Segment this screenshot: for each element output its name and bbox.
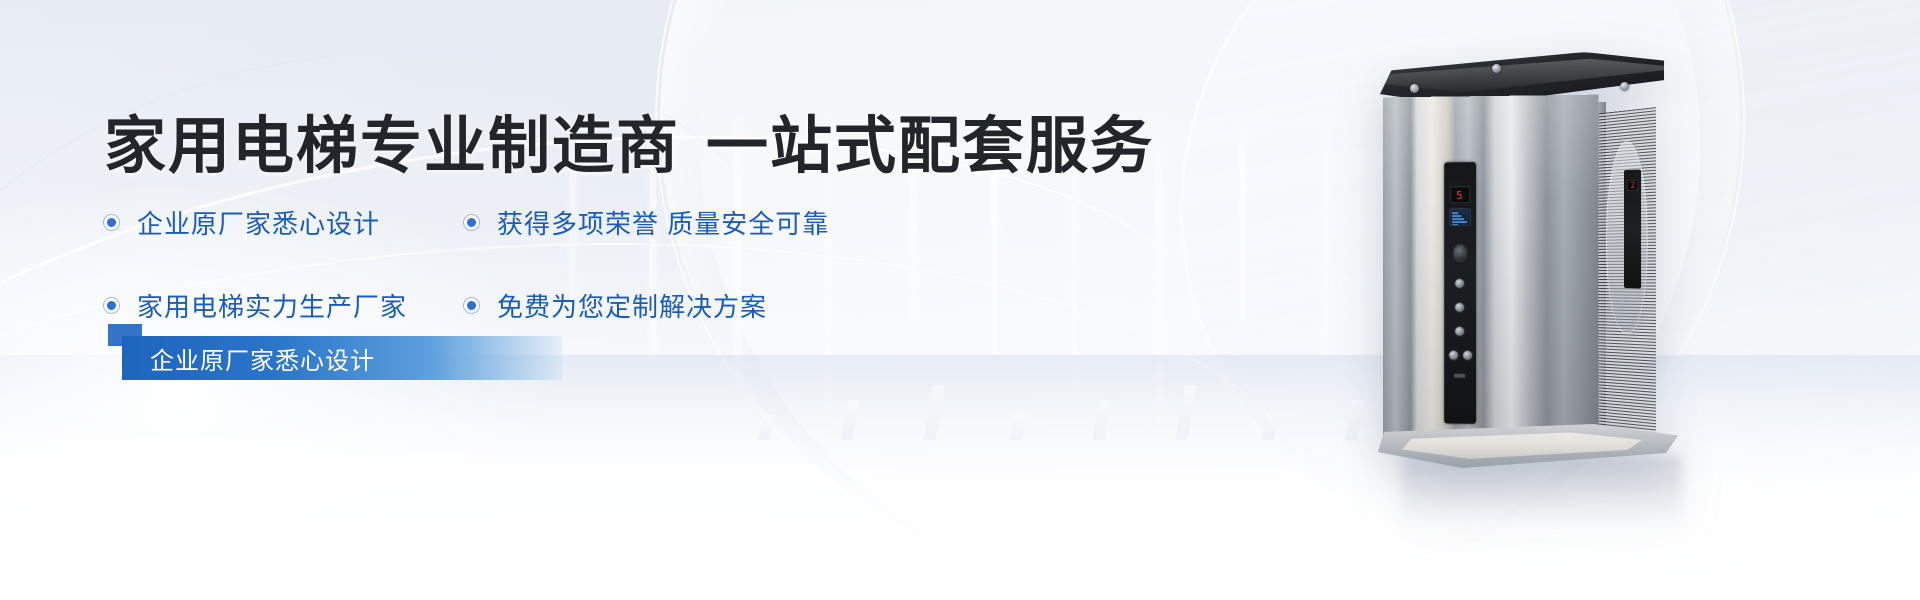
floor-button[interactable] [1454,326,1465,337]
feature-item-1: 企业原厂家悉心设计 [104,204,464,241]
ceiling-downlight-icon [1620,82,1629,91]
screen-text-line [1452,215,1461,217]
page-title: 家用电梯专业制造商一站式配套服务 [104,112,1154,181]
bullet-dot-icon [104,298,119,313]
feature-item-3: 家用电梯实力生产厂家 [104,287,464,324]
elevator-product-image: 2 5 [1372,52,1672,448]
cabin-shading [1383,95,1599,438]
feature-item-4: 免费为您定制解决方案 [464,287,864,324]
floor-indicator-secondary: 2 [1627,180,1638,191]
elevator-cabin-body: 5 [1383,95,1599,438]
bullet-dot-icon [464,215,479,230]
hero-banner: 家用电梯专业制造商一站式配套服务 企业原厂家悉心设计 获得多项荣誉 质量安全可靠… [0,0,1920,600]
feature-label: 免费为您定制解决方案 [497,287,767,324]
floor-number: 5 [1456,189,1463,202]
elevator-secondary-panel: 2 [1624,169,1641,288]
headline-secondary: 一站式配套服务 [706,112,1154,181]
screen-text-line [1452,212,1458,214]
feature-item-2: 获得多项荣誉 质量安全可靠 [464,204,864,241]
panel-brand-plate [1454,374,1465,378]
elevator-control-panel[interactable]: 5 [1444,162,1476,424]
panel-display-screen [1449,208,1471,226]
ribbon-label: 企业原厂家悉心设计 [150,341,375,376]
ceiling-downlight-icon [1410,84,1419,93]
screen-text-line [1452,221,1467,223]
feature-list: 企业原厂家悉心设计 获得多项荣誉 质量安全可靠 家用电梯实力生产厂家 免费为您定… [104,204,944,324]
feature-label: 获得多项荣誉 质量安全可靠 [497,204,829,241]
floor-button[interactable] [1454,278,1465,289]
door-open-button[interactable] [1448,350,1459,361]
floor-button[interactable] [1454,302,1465,313]
feature-label: 家用电梯实力生产厂家 [137,287,407,324]
bullet-dot-icon [104,215,119,230]
banner-content: 家用电梯专业制造商一站式配套服务 企业原厂家悉心设计 获得多项荣誉 质量安全可靠… [0,0,1100,600]
door-close-button[interactable] [1462,350,1473,361]
bullet-dot-icon [464,298,479,313]
screen-text-line [1452,218,1464,220]
screen-text-line [1452,224,1458,226]
floor-number-secondary: 2 [1631,181,1636,191]
bridge-cable [1240,120,1246,320]
ribbon-bar[interactable]: 企业原厂家悉心设计 [122,336,562,380]
panel-speaker-icon [1453,244,1467,262]
ceiling-downlight-icon [1492,64,1501,73]
floor-indicator: 5 [1450,186,1470,203]
ribbon-tab[interactable]: 企业原厂家悉心设计 [108,336,562,380]
bridge-cable [1322,120,1328,354]
feature-label: 企业原厂家悉心设计 [137,204,380,241]
headline-primary: 家用电梯专业制造商 [104,112,680,181]
elevator-ground-reflection [1402,456,1682,526]
